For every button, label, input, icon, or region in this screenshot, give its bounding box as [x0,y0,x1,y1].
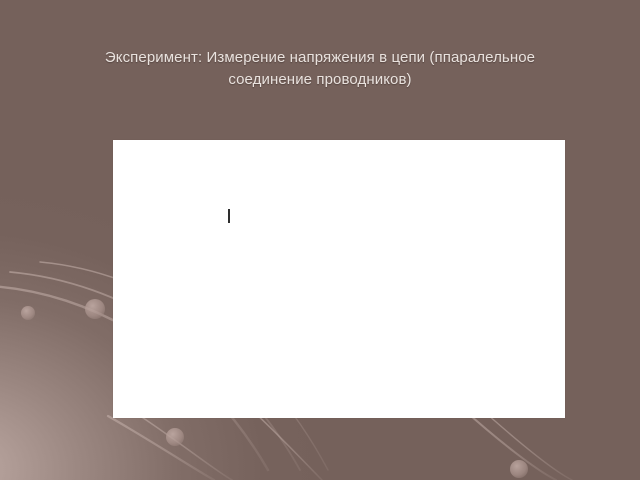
swoosh-dot [21,306,35,320]
content-panel-body-text [113,140,114,141]
slide-title-line-1: Эксперимент: Измерение напряжения в цепи… [50,47,590,69]
text-cursor-caret [228,209,230,223]
slide-title-line-2: соединение проводников) [50,69,590,91]
swoosh-dot [85,299,105,319]
content-placeholder-panel[interactable] [113,140,565,418]
presentation-slide: Эксперимент: Измерение напряжения в цепи… [0,0,640,480]
swoosh-dot [510,460,528,478]
slide-title: Эксперимент: Измерение напряжения в цепи… [50,47,590,91]
swoosh-dot [166,428,184,446]
